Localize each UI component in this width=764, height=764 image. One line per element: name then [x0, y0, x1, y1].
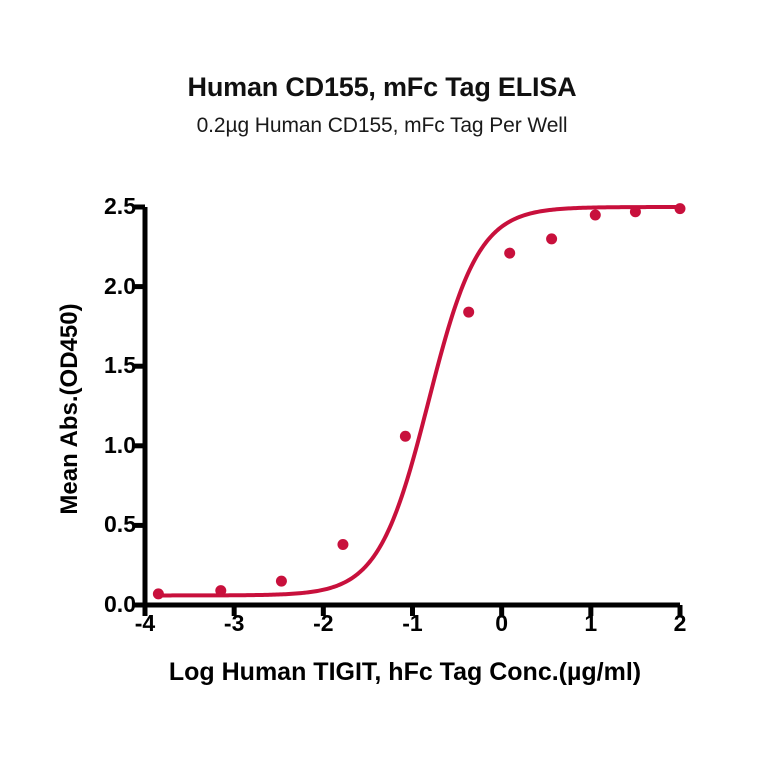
data-point-marker — [546, 233, 557, 244]
data-point-marker — [215, 585, 226, 596]
fit-curve — [158, 207, 680, 595]
data-point-marker — [337, 539, 348, 550]
data-point-marker — [463, 307, 474, 318]
data-point-marker — [675, 203, 686, 214]
plot-area — [0, 0, 764, 764]
data-point-marker — [153, 588, 164, 599]
data-point-marker — [400, 431, 411, 442]
data-point-marker — [630, 206, 641, 217]
data-point-marker — [504, 248, 515, 259]
data-point-marker — [590, 209, 601, 220]
elisa-chart-figure: Human CD155, mFc Tag ELISA 0.2µg Human C… — [0, 0, 764, 764]
data-point-marker — [276, 576, 287, 587]
